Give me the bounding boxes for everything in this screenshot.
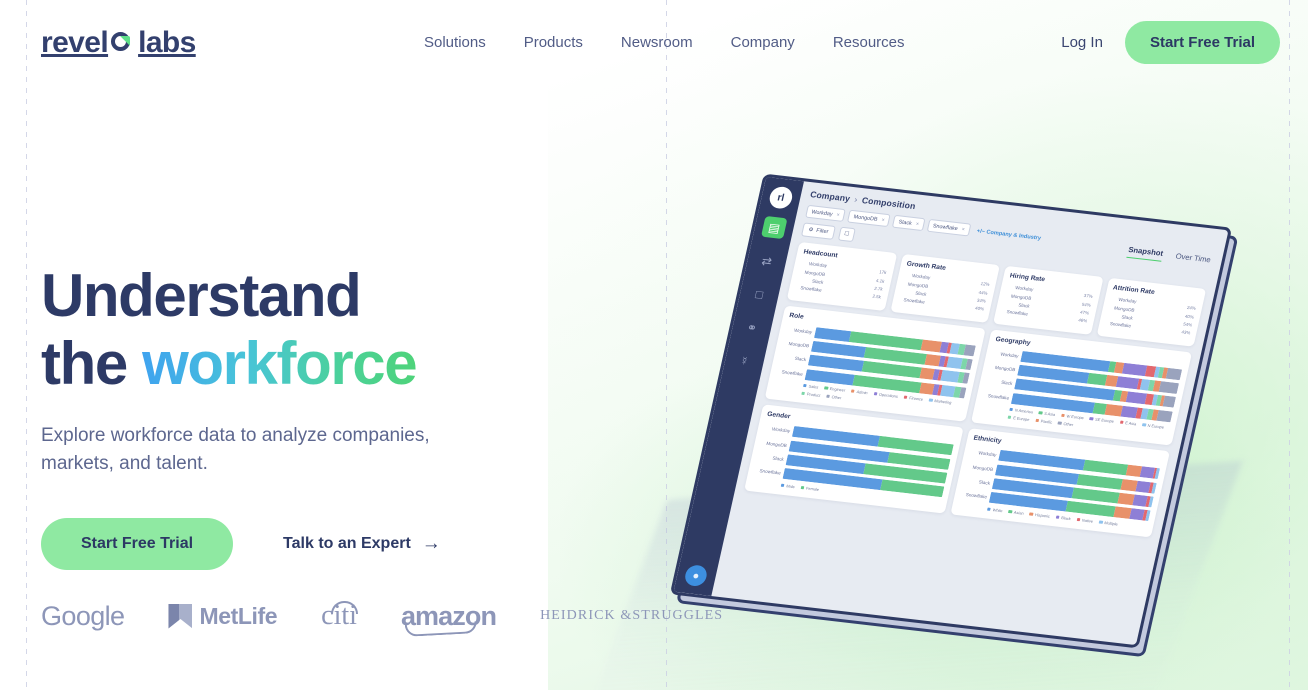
legend-label: N Europe bbox=[1147, 423, 1164, 430]
bar-value: 43% bbox=[1181, 330, 1191, 336]
card-growth-rate: Growth Rate Workday12%MongoDB44%Slack34%… bbox=[890, 254, 1000, 322]
stacked-bar-segment bbox=[921, 339, 943, 352]
bar-row-label: Workday bbox=[1110, 296, 1137, 304]
legend-swatch bbox=[1038, 411, 1042, 415]
stacked-bar-row-label: Snowflake bbox=[754, 468, 781, 476]
stacked-bar-row-label: Slack bbox=[757, 454, 784, 462]
stacked-bar-row-label: Snowflake bbox=[960, 492, 987, 500]
breadcrumb-root[interactable]: Company bbox=[809, 189, 851, 203]
legend-label: Sales bbox=[808, 384, 819, 390]
bar-row-label: MongoDB bbox=[1005, 293, 1032, 301]
card-headcount: Headcount Workday17kMongoDB4.1kSlack2.7k… bbox=[787, 242, 897, 310]
legend-item: N Europe bbox=[1142, 422, 1165, 429]
bar-value: 37% bbox=[1083, 293, 1093, 299]
nav-item-company[interactable]: Company bbox=[712, 26, 814, 59]
bar-row-label: MongoDB bbox=[1108, 305, 1135, 313]
stacked-bar-row-label: MongoDB bbox=[760, 440, 787, 448]
legend-item: White bbox=[987, 506, 1003, 513]
legend-swatch bbox=[824, 386, 828, 390]
tab-snapshot[interactable]: Snapshot bbox=[1127, 245, 1164, 262]
card-attrition-rate: Attrition Rate Workday24%MongoDB40%Slack… bbox=[1096, 278, 1206, 346]
site-header: revel labs Solutions Products Newsroom C… bbox=[0, 0, 1308, 84]
stacked-bar-row-label: Snowflake bbox=[983, 393, 1010, 401]
chip-label: Workday bbox=[811, 209, 833, 217]
legend-item: Male bbox=[781, 483, 796, 489]
legend-item: E Europe bbox=[1007, 415, 1030, 422]
stacked-bar-row-label: Workday bbox=[992, 350, 1019, 358]
legend-item: Finance bbox=[903, 395, 923, 402]
dashboard-screen: rl ▤ ⇄ □ ⚭ ☿ ● Company › Composition bbox=[670, 174, 1232, 649]
report-icon[interactable]: □ bbox=[746, 282, 773, 305]
legend-label: Product bbox=[806, 392, 820, 398]
logo-heidrick-line1: HEIDRICK & bbox=[540, 607, 632, 625]
close-icon[interactable]: × bbox=[836, 212, 840, 218]
bar-row-label: Snowflake bbox=[1001, 309, 1028, 317]
legend-label: White bbox=[992, 507, 1003, 513]
nav-item-newsroom[interactable]: Newsroom bbox=[602, 26, 712, 59]
stacked-bar-row-label: Workday bbox=[970, 450, 997, 458]
chip-label: Slack bbox=[898, 219, 912, 226]
legend-label: Engineer bbox=[829, 386, 846, 393]
legend-label: E Asia bbox=[1125, 420, 1137, 426]
filter-label: Filter bbox=[816, 228, 829, 235]
hero-section: Understand the workforce Explore workfor… bbox=[41, 262, 601, 570]
stacked-bar-segment bbox=[1122, 363, 1147, 376]
tab-over-time[interactable]: Over Time bbox=[1174, 251, 1212, 267]
bar-track bbox=[1133, 324, 1179, 334]
bar-value: 2.7k bbox=[874, 286, 883, 292]
stacked-bar-segment bbox=[964, 344, 976, 356]
legend-label: Pacific bbox=[1040, 419, 1053, 425]
legend-label: Multiple bbox=[1104, 520, 1118, 526]
legend-item: Marketing bbox=[929, 398, 953, 405]
logo-metlife: MetLife bbox=[168, 603, 277, 630]
document-icon[interactable]: ▤ bbox=[761, 216, 788, 239]
headline-line-2-plain: the bbox=[41, 330, 142, 397]
stacked-bar-row-label: Snowflake bbox=[776, 369, 803, 377]
logo-heidrick-struggles: HEIDRICK & STRUGGLES bbox=[540, 607, 723, 625]
headline-line-2-accent: workforce bbox=[142, 330, 416, 397]
stacked-bar-segment bbox=[966, 359, 973, 370]
legend-label: Asian bbox=[1014, 509, 1025, 515]
bar-value: 17k bbox=[879, 270, 887, 276]
legend-swatch bbox=[1009, 408, 1013, 412]
layout-guide-left bbox=[26, 0, 27, 690]
legend-item: Admin bbox=[851, 389, 868, 396]
bar-row-label: Slack bbox=[1106, 313, 1133, 321]
stacked-bar-segment bbox=[1116, 376, 1139, 389]
metlife-mark-icon bbox=[168, 604, 192, 629]
filter-chip-snowflake[interactable]: Snowflake × bbox=[926, 219, 971, 237]
filter-button[interactable]: ⚙ Filter bbox=[801, 223, 836, 240]
legend-item: Multiple bbox=[1099, 519, 1119, 526]
bar-row-label: Snowflake bbox=[1104, 321, 1131, 329]
breadcrumb-separator-icon: › bbox=[853, 194, 858, 204]
legend-item: Other bbox=[1058, 421, 1074, 428]
product-screenshot-mockup: rl ▤ ⇄ □ ⚭ ☿ ● Company › Composition bbox=[620, 150, 1308, 690]
legend-swatch bbox=[801, 486, 805, 490]
legend-swatch bbox=[801, 392, 805, 396]
add-remove-company-industry-link[interactable]: +/− Company & Industry bbox=[976, 228, 1041, 241]
legend-label: E Europe bbox=[1013, 416, 1030, 423]
bar-value: 40% bbox=[1185, 313, 1195, 319]
chip-label: Snowflake bbox=[932, 223, 958, 232]
stacked-bar-segment bbox=[1165, 368, 1182, 380]
start-free-trial-button-hero[interactable]: Start Free Trial bbox=[41, 518, 233, 570]
legend-item: Black bbox=[1055, 514, 1071, 521]
login-link[interactable]: Log In bbox=[1061, 34, 1103, 51]
legend-swatch bbox=[873, 392, 877, 396]
legend-swatch bbox=[1099, 520, 1103, 524]
bar-row-label: Slack bbox=[900, 289, 927, 297]
customer-logo-strip: Google MetLife citi amazon HEIDRICK & ST… bbox=[41, 600, 723, 632]
nav-item-products[interactable]: Products bbox=[505, 26, 602, 59]
start-free-trial-button-header[interactable]: Start Free Trial bbox=[1125, 21, 1280, 64]
nav-item-resources[interactable]: Resources bbox=[814, 26, 924, 59]
stacked-bar-segment bbox=[1083, 460, 1128, 476]
legend-label: S Asia bbox=[1044, 411, 1056, 417]
stacked-bar-segment bbox=[1162, 396, 1176, 408]
arrow-right-icon: → bbox=[422, 534, 441, 553]
stacked-bar-chart: WorkdayMongoDBSlackSnowflakeSalesEnginee… bbox=[772, 324, 976, 415]
legend-item: Sales bbox=[803, 383, 819, 390]
bar-chart: Workday37%MongoDB54%Slack47%Snowflake46% bbox=[1001, 284, 1093, 324]
legend-label: Marketing bbox=[934, 398, 952, 405]
legend-label: Admin bbox=[856, 389, 868, 395]
talk-to-expert-label: Talk to an Expert bbox=[283, 535, 411, 553]
legend-label: SE Europe bbox=[1095, 417, 1115, 424]
legend-item: Female bbox=[800, 485, 819, 492]
legend-swatch bbox=[987, 507, 991, 511]
filter-icon: ⚙ bbox=[808, 227, 814, 233]
header-actions: Log In Start Free Trial bbox=[1061, 0, 1280, 84]
bar-row-label: Snowflake bbox=[898, 297, 925, 305]
compare-arrows-icon[interactable]: ⇄ bbox=[754, 249, 781, 272]
stacked-bar-segment bbox=[1076, 474, 1123, 490]
bar-chart: Workday12%MongoDB44%Slack34%Snowflake40% bbox=[898, 272, 990, 312]
legend-item: Other bbox=[826, 394, 842, 401]
card-gender: Gender WorkdayMongoDBSlackSnowflakeMaleF… bbox=[744, 405, 963, 514]
legend-swatch bbox=[851, 390, 855, 394]
card-hiring-rate: Hiring Rate Workday37%MongoDB54%Slack47%… bbox=[993, 266, 1103, 334]
bar-value: 12% bbox=[980, 281, 990, 287]
bar-value: 46% bbox=[1078, 318, 1088, 324]
bookmark-icon: ☐ bbox=[843, 231, 849, 237]
bar-track bbox=[824, 288, 870, 298]
stacked-bar-segment bbox=[1072, 487, 1121, 503]
legend-swatch bbox=[1120, 421, 1124, 425]
logo-citi: citi bbox=[321, 600, 357, 632]
brand-logo-pie-icon bbox=[109, 29, 133, 53]
legend-item: Pacific bbox=[1035, 418, 1053, 425]
person-icon[interactable]: ☿ bbox=[731, 349, 758, 372]
talk-to-expert-link[interactable]: Talk to an Expert → bbox=[283, 534, 441, 553]
brand-logo-text-a: revel bbox=[41, 26, 108, 60]
breadcrumb-leaf: Composition bbox=[861, 195, 917, 211]
stacked-bar-segment bbox=[1159, 381, 1179, 394]
legend-item: Product bbox=[801, 391, 821, 398]
bar-row-label: Snowflake bbox=[795, 285, 822, 293]
bar-value: 54% bbox=[1081, 301, 1091, 307]
stacked-bar-row-label: Slack bbox=[780, 355, 807, 363]
logo-amazon: amazon bbox=[401, 601, 496, 632]
stacked-bar-segment bbox=[1156, 410, 1173, 422]
logo-metlife-label: MetLife bbox=[199, 603, 277, 630]
stacked-bar-segment bbox=[1151, 482, 1157, 493]
legend-label: N America bbox=[1014, 408, 1033, 415]
stacked-bar-segment bbox=[814, 327, 851, 342]
filter-chip-slack[interactable]: Slack × bbox=[892, 215, 925, 231]
logo-google: Google bbox=[41, 601, 124, 632]
legend-label: Operations bbox=[878, 392, 898, 399]
bar-row-label: Workday bbox=[801, 261, 828, 269]
hero-cta-group: Start Free Trial Talk to an Expert → bbox=[41, 518, 601, 570]
stacked-bar-segment bbox=[1145, 510, 1151, 521]
legend-label: Other bbox=[1063, 421, 1074, 427]
legend-swatch bbox=[929, 399, 933, 403]
logo-heidrick-line2: STRUGGLES bbox=[632, 607, 723, 625]
tablet-device: rl ▤ ⇄ □ ⚭ ☿ ● Company › Composition bbox=[670, 174, 1232, 649]
legend-swatch bbox=[1142, 423, 1146, 427]
stacked-bar-row-label: Workday bbox=[764, 426, 791, 434]
filter-chip-workday[interactable]: Workday × bbox=[805, 205, 846, 222]
bar-row-label: Slack bbox=[797, 277, 824, 285]
legend-item: Engineer bbox=[824, 386, 846, 393]
legend-label: Native bbox=[1082, 517, 1094, 523]
legend-swatch bbox=[1007, 416, 1011, 420]
close-icon[interactable]: × bbox=[881, 217, 885, 223]
bar-value: 40% bbox=[975, 306, 985, 312]
legend-label: Black bbox=[1061, 515, 1072, 521]
legend-swatch bbox=[1056, 515, 1060, 519]
stacked-bar-segment bbox=[959, 387, 966, 398]
stacked-bar-chart: WorkdayMongoDBSlackSnowflakeN AmericaS A… bbox=[978, 347, 1182, 438]
bar-value: 54% bbox=[1183, 322, 1193, 328]
stacked-bar-row-label: MongoDB bbox=[989, 364, 1016, 372]
legend-swatch bbox=[904, 396, 908, 400]
stacked-bar-row-label: MongoDB bbox=[783, 341, 810, 349]
bar-value: 24% bbox=[1186, 305, 1196, 311]
bar-value: 47% bbox=[1080, 310, 1090, 316]
brand-logo-text-b: labs bbox=[138, 26, 196, 60]
legend-item: SE Europe bbox=[1089, 416, 1114, 424]
stacked-bar-segment bbox=[805, 369, 855, 385]
bookmark-button[interactable]: ☐ bbox=[838, 227, 856, 242]
bar-row-label: Workday bbox=[904, 272, 931, 280]
nav-item-solutions[interactable]: Solutions bbox=[424, 26, 505, 59]
legend-swatch bbox=[781, 483, 785, 487]
legend-swatch bbox=[1089, 417, 1093, 421]
dashboard-logo: rl bbox=[768, 186, 795, 210]
bar-track bbox=[1030, 312, 1076, 322]
close-icon[interactable]: × bbox=[961, 226, 965, 232]
legend-swatch bbox=[1029, 512, 1033, 516]
legend-swatch bbox=[826, 395, 830, 399]
link-icon[interactable]: ⚭ bbox=[739, 316, 766, 339]
stacked-bar-segment bbox=[1065, 501, 1115, 517]
page-title: Understand the workforce bbox=[41, 262, 601, 398]
bar-row-label: Slack bbox=[1003, 301, 1030, 309]
bar-value: 44% bbox=[978, 290, 988, 296]
stacked-bar-segment bbox=[1126, 392, 1148, 405]
bar-chart: Workday24%MongoDB40%Slack54%Snowflake43% bbox=[1104, 296, 1196, 336]
stacked-bar-row-label: Slack bbox=[964, 478, 991, 486]
legend-label: Male bbox=[786, 483, 796, 489]
close-icon[interactable]: × bbox=[915, 221, 919, 227]
dashboard-main: Company › Composition Workday × MongoDB … bbox=[711, 181, 1228, 645]
headline-line-1: Understand bbox=[41, 262, 360, 329]
legend-item: W Europe bbox=[1061, 413, 1085, 421]
legend-label: Hispanic bbox=[1035, 512, 1051, 519]
legend-label: Female bbox=[806, 485, 820, 491]
stacked-bar-segment bbox=[1154, 468, 1160, 479]
legend-swatch bbox=[803, 384, 807, 388]
bar-row-label: Workday bbox=[1007, 284, 1034, 292]
stacked-bar-segment bbox=[1148, 496, 1154, 507]
bar-value: 34% bbox=[976, 298, 986, 304]
brand-logo[interactable]: revel labs bbox=[41, 26, 196, 60]
legend-swatch bbox=[1035, 419, 1039, 423]
bar-track bbox=[927, 300, 973, 310]
legend-label: W Europe bbox=[1066, 414, 1084, 421]
legend-swatch bbox=[1076, 518, 1080, 522]
legend-item: Hispanic bbox=[1029, 511, 1050, 518]
card-role: Role WorkdayMongoDBSlackSnowflakeSalesEn… bbox=[765, 305, 986, 422]
stacked-bar-row-label: Workday bbox=[786, 326, 813, 334]
filter-chip-mongodb[interactable]: MongoDB × bbox=[847, 210, 891, 228]
legend-item: N America bbox=[1009, 407, 1033, 415]
bar-row-label: MongoDB bbox=[902, 281, 929, 289]
legend-item: Asian bbox=[1008, 509, 1024, 516]
landing-page: revel labs Solutions Products Newsroom C… bbox=[0, 0, 1308, 690]
bar-value: 2.5k bbox=[872, 294, 881, 300]
legend-label: Finance bbox=[909, 395, 924, 401]
stacked-bar-row-label: Slack bbox=[986, 378, 1013, 386]
card-geography: Geography WorkdayMongoDBSlackSnowflakeN … bbox=[971, 329, 1192, 446]
primary-nav: Solutions Products Newsroom Company Reso… bbox=[424, 0, 924, 84]
stacked-bar-segment bbox=[962, 373, 969, 384]
legend-swatch bbox=[1058, 421, 1062, 425]
card-ethnicity: Ethnicity WorkdayMongoDBSlackSnowflakeWh… bbox=[950, 428, 1169, 537]
bar-row-label: MongoDB bbox=[799, 269, 826, 277]
bar-chart: Workday17kMongoDB4.1kSlack2.7kSnowflake2… bbox=[795, 260, 887, 300]
avatar[interactable]: ● bbox=[683, 564, 709, 587]
legend-swatch bbox=[1008, 510, 1012, 514]
bar-value: 4.1k bbox=[876, 278, 885, 284]
legend-swatch bbox=[1061, 414, 1065, 418]
legend-label: Other bbox=[831, 394, 842, 400]
legend-item: Operations bbox=[873, 391, 898, 399]
legend-item: S Asia bbox=[1038, 410, 1055, 417]
chip-label: MongoDB bbox=[853, 214, 878, 223]
stacked-bar-row-label: MongoDB bbox=[967, 464, 994, 472]
legend-item: Native bbox=[1076, 517, 1093, 524]
legend-item: E Asia bbox=[1119, 420, 1136, 427]
hero-subtitle: Explore workforce data to analyze compan… bbox=[41, 422, 471, 478]
